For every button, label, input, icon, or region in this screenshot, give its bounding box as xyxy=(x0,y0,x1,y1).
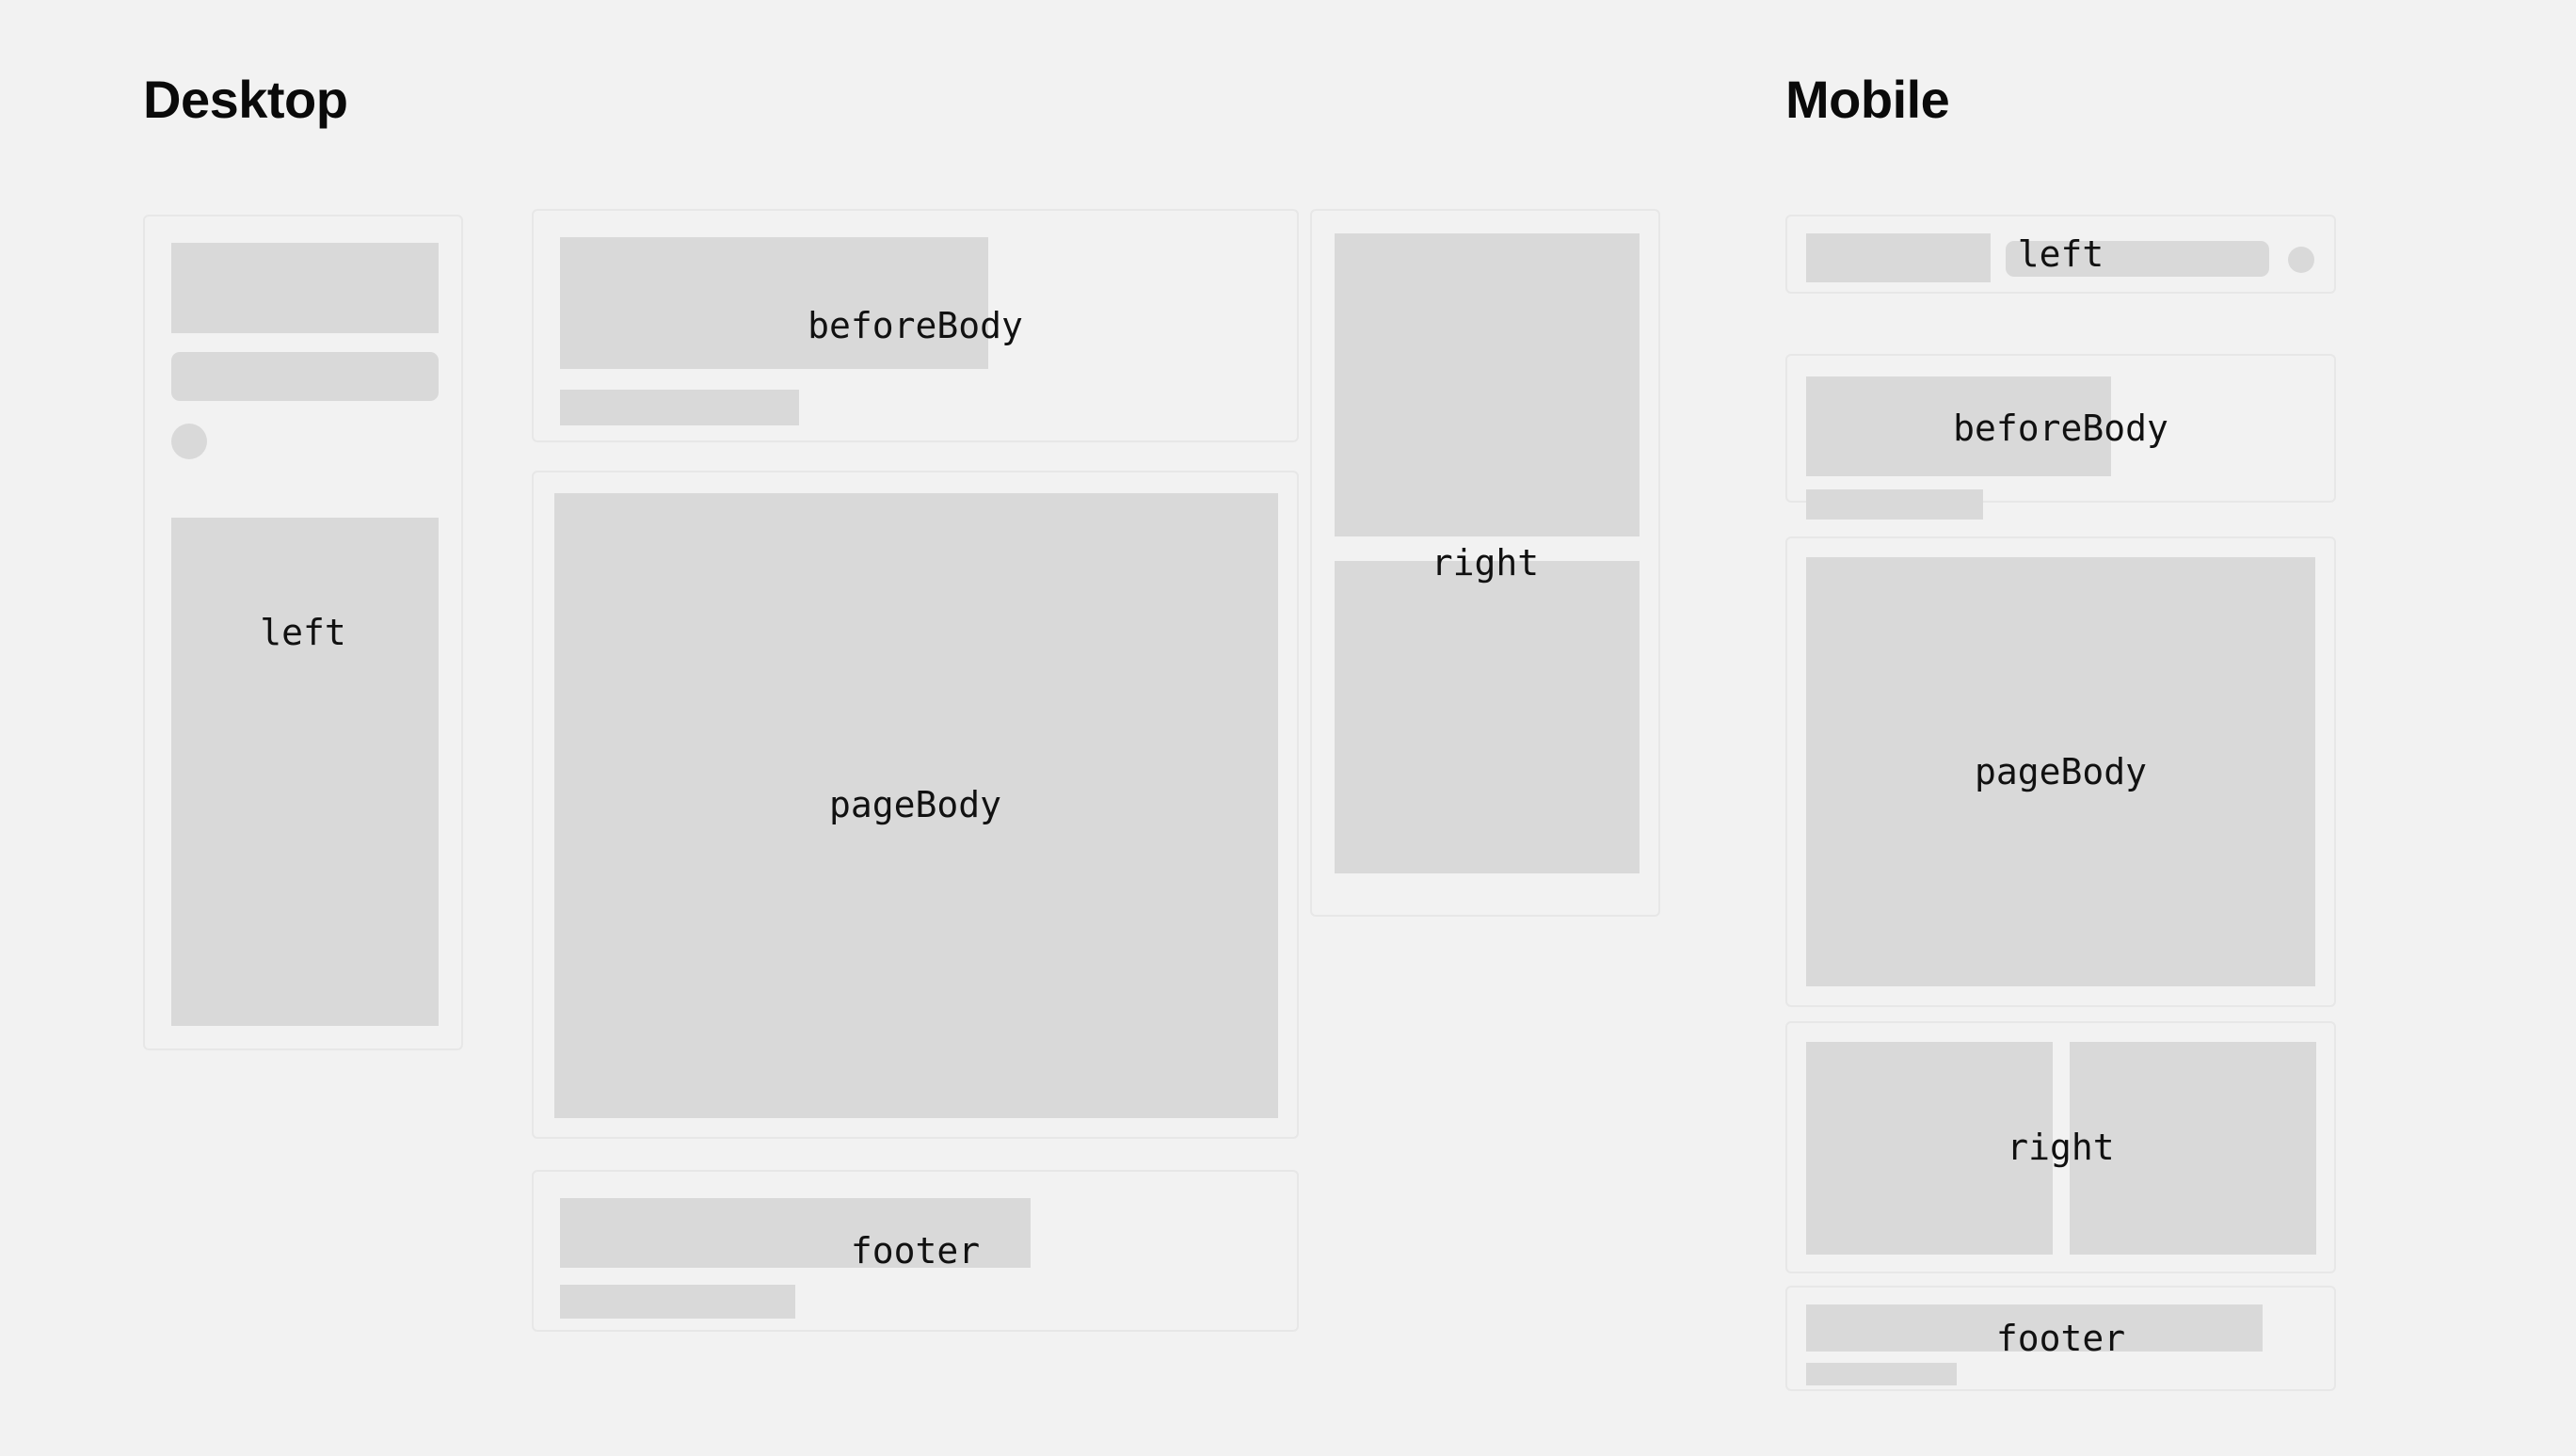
skeleton-block xyxy=(2070,1042,2316,1255)
skeleton-block xyxy=(560,1198,1031,1268)
skeleton-bar xyxy=(1806,489,1983,520)
mobile-slot-left[interactable]: left xyxy=(1785,215,2336,294)
skeleton-block xyxy=(1806,1304,2263,1352)
skeleton-block xyxy=(554,493,1278,1118)
skeleton-block xyxy=(1806,233,1991,282)
skeleton-block xyxy=(1335,233,1640,536)
skeleton-block xyxy=(1806,557,2315,986)
skeleton-bar xyxy=(560,390,799,425)
skeleton-block xyxy=(560,237,988,369)
mobile-slot-right[interactable]: right xyxy=(1785,1021,2336,1273)
desktop-slot-footer[interactable]: footer xyxy=(532,1170,1299,1332)
skeleton-bar xyxy=(171,352,439,401)
mobile-slot-pagebody[interactable]: pageBody xyxy=(1785,536,2336,1007)
desktop-section-title: Desktop xyxy=(143,73,347,126)
skeleton-circle xyxy=(2288,247,2314,273)
skeleton-circle xyxy=(171,424,207,459)
mobile-slot-footer[interactable]: footer xyxy=(1785,1286,2336,1391)
skeleton-bar xyxy=(1806,1363,1957,1385)
skeleton-block xyxy=(1806,376,2111,476)
desktop-slot-beforebody[interactable]: beforeBody xyxy=(532,209,1299,442)
skeleton-bar xyxy=(2006,241,2269,277)
skeleton-bar xyxy=(560,1285,795,1319)
desktop-slot-right[interactable]: right xyxy=(1310,209,1660,917)
skeleton-block xyxy=(1806,1042,2053,1255)
desktop-slot-pagebody[interactable]: pageBody xyxy=(532,471,1299,1139)
skeleton-block xyxy=(171,243,439,333)
mobile-section-title: Mobile xyxy=(1785,73,1949,126)
skeleton-block xyxy=(171,518,439,1026)
desktop-slot-left[interactable]: left xyxy=(143,215,463,1050)
skeleton-block xyxy=(1335,561,1640,873)
mobile-slot-beforebody[interactable]: beforeBody xyxy=(1785,354,2336,503)
